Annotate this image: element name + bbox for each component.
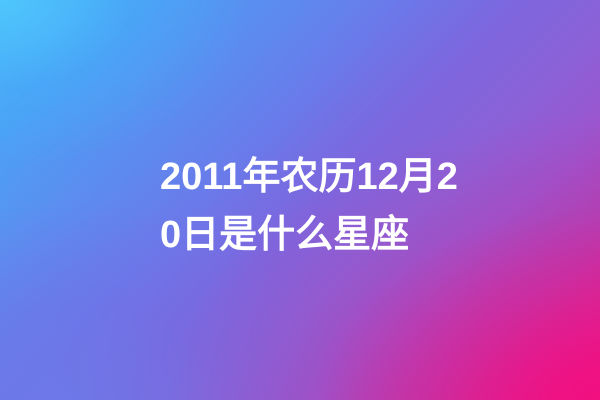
banner-headline: 2011年农历12月20日是什么星座 — [160, 148, 460, 264]
title-card-banner: 2011年农历12月20日是什么星座 — [0, 0, 600, 400]
